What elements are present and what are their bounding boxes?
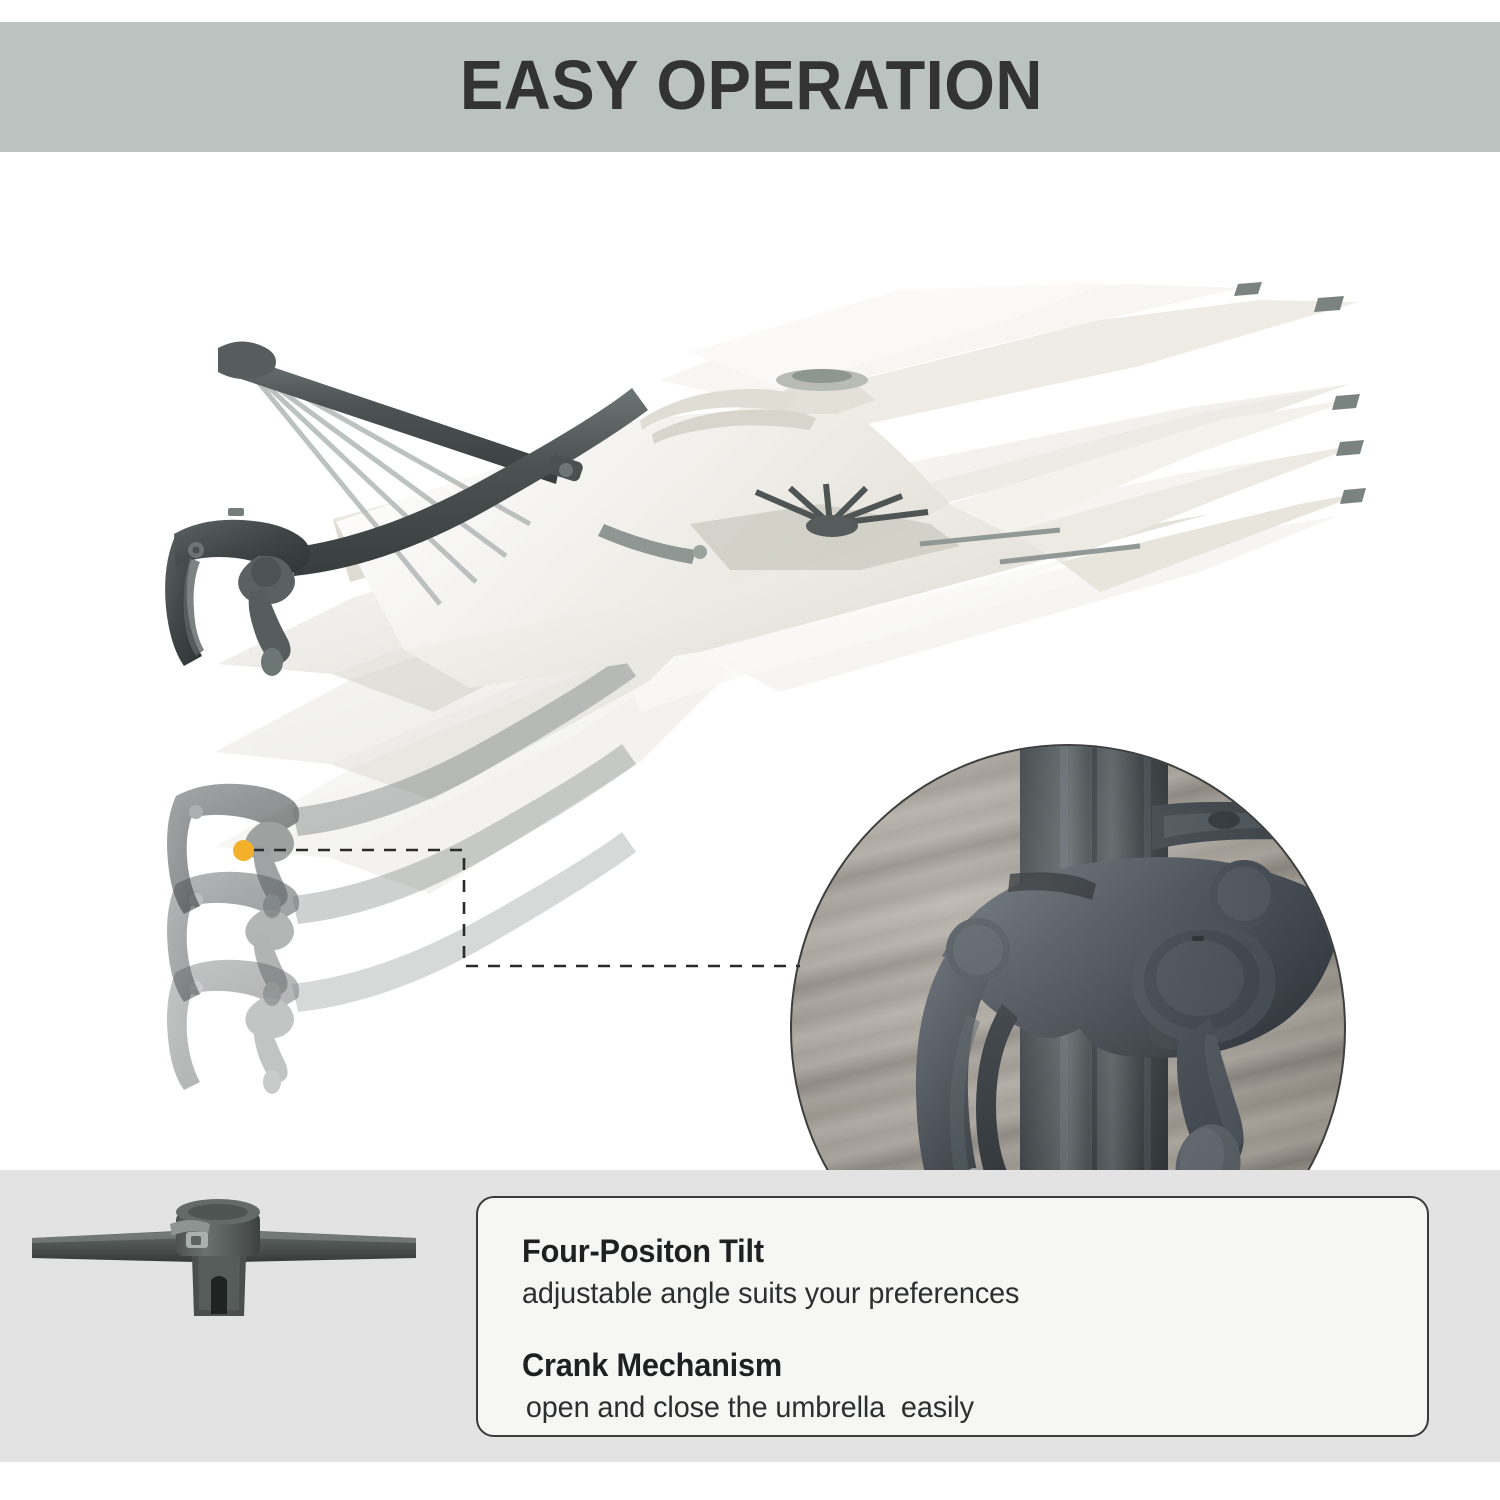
hotspot-dot-icon[interactable]: [233, 840, 254, 861]
feature-block-tilt: Four-Positon Tilt adjustable angle suits…: [522, 1234, 1427, 1312]
feature-block-crank: Crank Mechanism open and close the umbre…: [522, 1348, 1427, 1426]
feature-spec-panel: Four-Positon Tilt adjustable angle suits…: [476, 1196, 1429, 1437]
feature-subtext-tilt: adjustable angle suits your preferences: [522, 1276, 1391, 1312]
feature-subtext-crank: open and close the umbrella easily: [522, 1390, 1391, 1426]
feature-heading-tilt: Four-Positon Tilt: [522, 1234, 1391, 1270]
feature-heading-crank: Crank Mechanism: [522, 1348, 1391, 1384]
